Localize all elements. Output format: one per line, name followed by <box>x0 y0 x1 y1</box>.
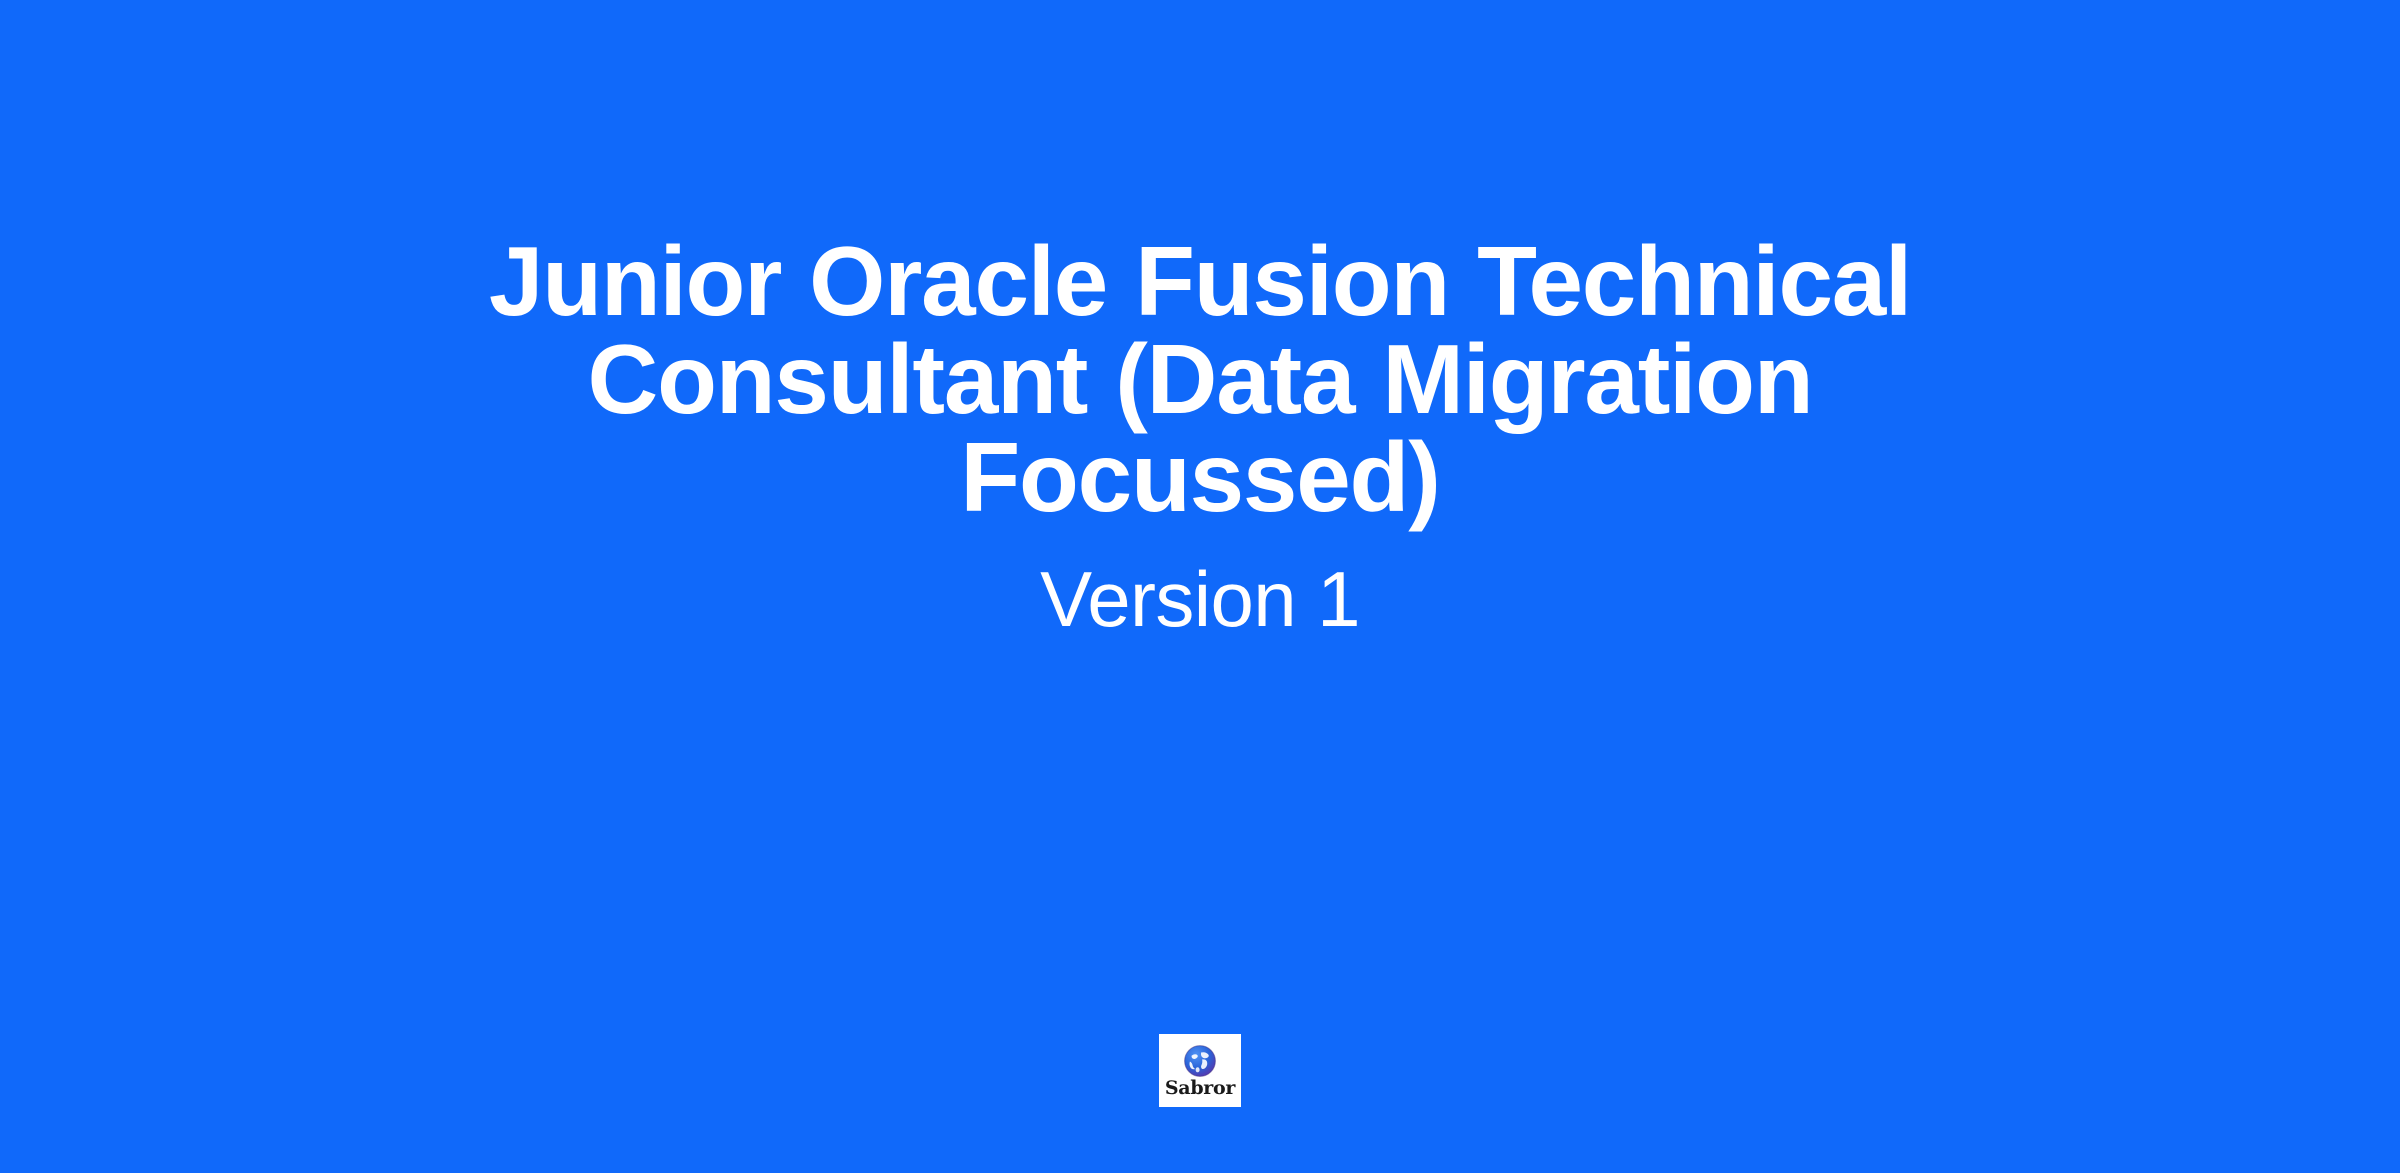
page-title: Junior Oracle Fusion Technical Consultan… <box>340 232 2060 526</box>
globe-icon <box>1183 1044 1217 1078</box>
brand-wordmark: Sabror <box>1165 1079 1235 1098</box>
brand-logo: Sabror <box>1159 1034 1241 1107</box>
title-block: Junior Oracle Fusion Technical Consultan… <box>0 232 2400 638</box>
page-subtitle: Version 1 <box>1040 560 1360 638</box>
title-slide: Junior Oracle Fusion Technical Consultan… <box>0 0 2400 1173</box>
